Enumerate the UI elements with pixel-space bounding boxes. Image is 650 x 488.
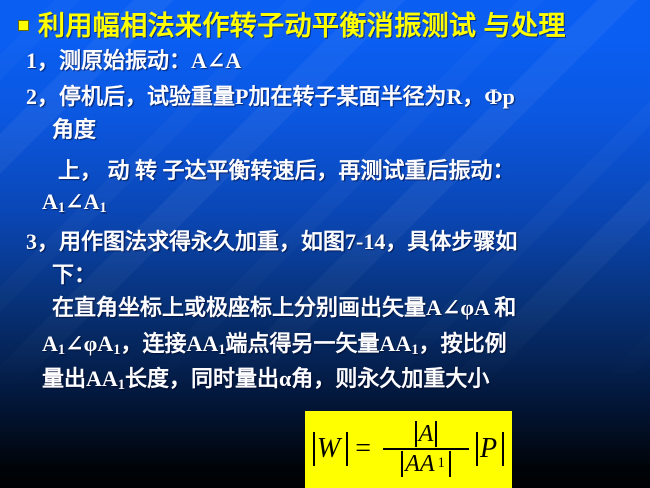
- formula-lhs-symbol: W: [317, 435, 340, 463]
- body-line-step3a: 3，用作图法求得永久加重，如图7-14，具体步骤如: [26, 224, 517, 256]
- abs-bar-left-aa1: [401, 451, 403, 477]
- abs-bar-left-w: [313, 432, 315, 466]
- formula-denominator: AA: [405, 452, 434, 476]
- body-line-step2c: 上， 动 转 子达平衡转速后，再测试重后振动：: [58, 153, 515, 185]
- abs-bar-left-p: [476, 432, 478, 466]
- body-line-step3d: A1∠φA1，连接AA1端点得另一矢量AA1，按比例: [42, 326, 507, 359]
- square-bullet-icon: [18, 20, 29, 31]
- body-line-step3e: 量出AA1长度，同时量出α角，则永久加重大小: [42, 361, 489, 394]
- formula-numerator-group: A: [411, 421, 442, 447]
- abs-bar-left-a: [415, 421, 417, 447]
- body-line-step2b: 角度: [52, 112, 96, 144]
- formula-multiplier: P: [480, 435, 497, 463]
- body-line-step1: 1，测原始振动：A∠A: [26, 43, 241, 75]
- formula-equals: =: [355, 435, 371, 463]
- abs-bar-right-p: [502, 432, 504, 466]
- page-title: 利用幅相法来作转子动平衡消振测试 与处理: [38, 4, 566, 43]
- abs-bar-right-aa1: [449, 451, 451, 477]
- slide-title-row: 利用幅相法来作转子动平衡消振测试 与处理: [18, 4, 566, 43]
- slide-canvas: 利用幅相法来作转子动平衡消振测试 与处理 1，测原始振动：A∠A 2，停机后，试…: [0, 0, 650, 488]
- formula-expression: W = A AA1 P: [311, 421, 506, 479]
- formula-denominator-group: AA1: [397, 451, 455, 477]
- body-line-step2a: 2，停机后，试验重量P加在转子某面半径为R，Φp: [26, 79, 515, 111]
- abs-bar-right-a: [435, 421, 437, 447]
- formula-box: W = A AA1 P: [305, 411, 512, 488]
- slide-content: 利用幅相法来作转子动平衡消振测试 与处理 1，测原始振动：A∠A 2，停机后，试…: [0, 0, 650, 488]
- body-line-step3b: 下：: [52, 257, 96, 289]
- body-line-step2d: A1∠A1: [42, 189, 107, 217]
- body-line-step3c: 在直角坐标上或极座标上分别画出矢量A∠φA 和: [52, 290, 516, 322]
- formula-fraction: A AA1: [383, 421, 469, 477]
- formula-numerator: A: [419, 422, 434, 446]
- fraction-rule: [383, 448, 469, 450]
- abs-bar-right-w: [346, 432, 348, 466]
- formula-denominator-subscript: 1: [438, 456, 445, 470]
